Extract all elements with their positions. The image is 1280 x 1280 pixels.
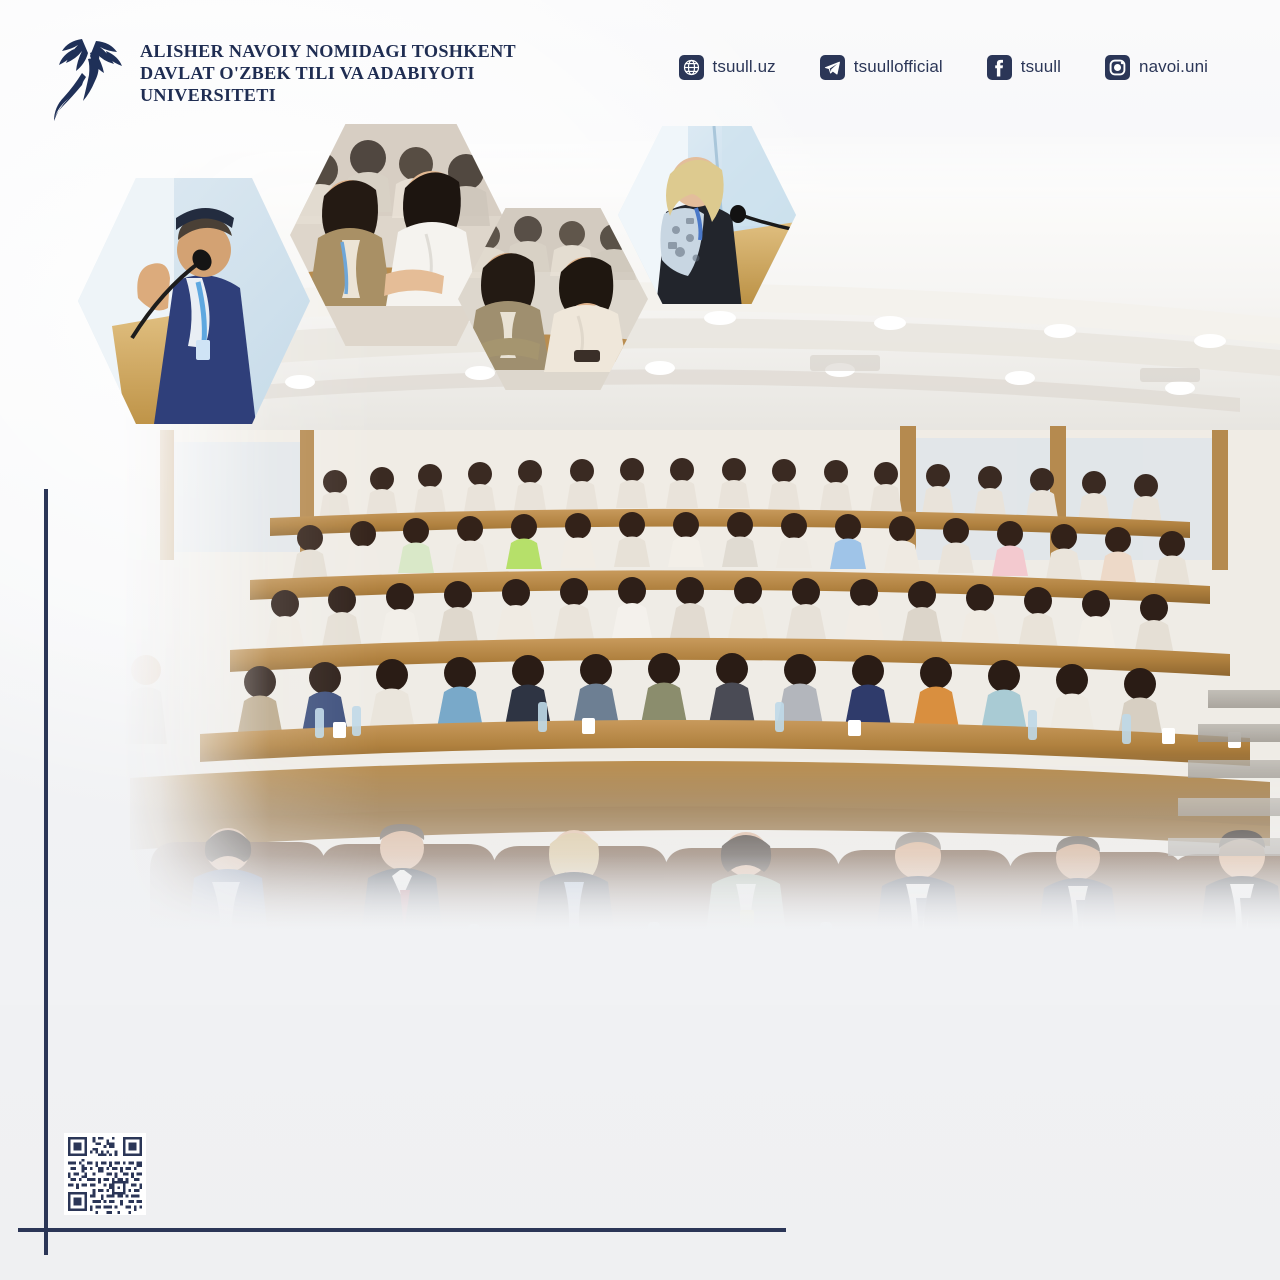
poster-header: ALISHER NAVOIY NOMIDAGI TOSHKENT DAVLAT … bbox=[0, 0, 1280, 146]
social-link-instagram[interactable]: navoi.uni bbox=[1105, 55, 1208, 80]
facebook-icon bbox=[987, 55, 1012, 80]
social-label-telegram: tsuullofficial bbox=[854, 57, 943, 77]
globe-icon bbox=[679, 55, 704, 80]
social-links: tsuull.uz tsuullofficial bbox=[679, 55, 1208, 92]
horizontal-accent-rule bbox=[18, 1228, 786, 1232]
university-name: ALISHER NAVOIY NOMIDAGI TOSHKENT DAVLAT … bbox=[140, 40, 516, 107]
social-label-facebook: tsuull bbox=[1021, 57, 1061, 77]
qr-code[interactable] bbox=[64, 1133, 146, 1215]
social-label-website: tsuull.uz bbox=[713, 57, 776, 77]
social-label-instagram: navoi.uni bbox=[1139, 57, 1208, 77]
vertical-accent-rule bbox=[44, 489, 48, 1255]
instagram-icon bbox=[1105, 55, 1130, 80]
social-link-telegram[interactable]: tsuullofficial bbox=[820, 55, 943, 80]
social-link-website[interactable]: tsuull.uz bbox=[679, 55, 776, 80]
brand-lockup: ALISHER NAVOIY NOMIDAGI TOSHKENT DAVLAT … bbox=[52, 25, 516, 121]
social-link-facebook[interactable]: tsuull bbox=[987, 55, 1061, 80]
poster-canvas: ALISHER NAVOIY NOMIDAGI TOSHKENT DAVLAT … bbox=[0, 0, 1280, 1280]
telegram-icon bbox=[820, 55, 845, 80]
flying-crane-logo-icon bbox=[52, 25, 126, 121]
